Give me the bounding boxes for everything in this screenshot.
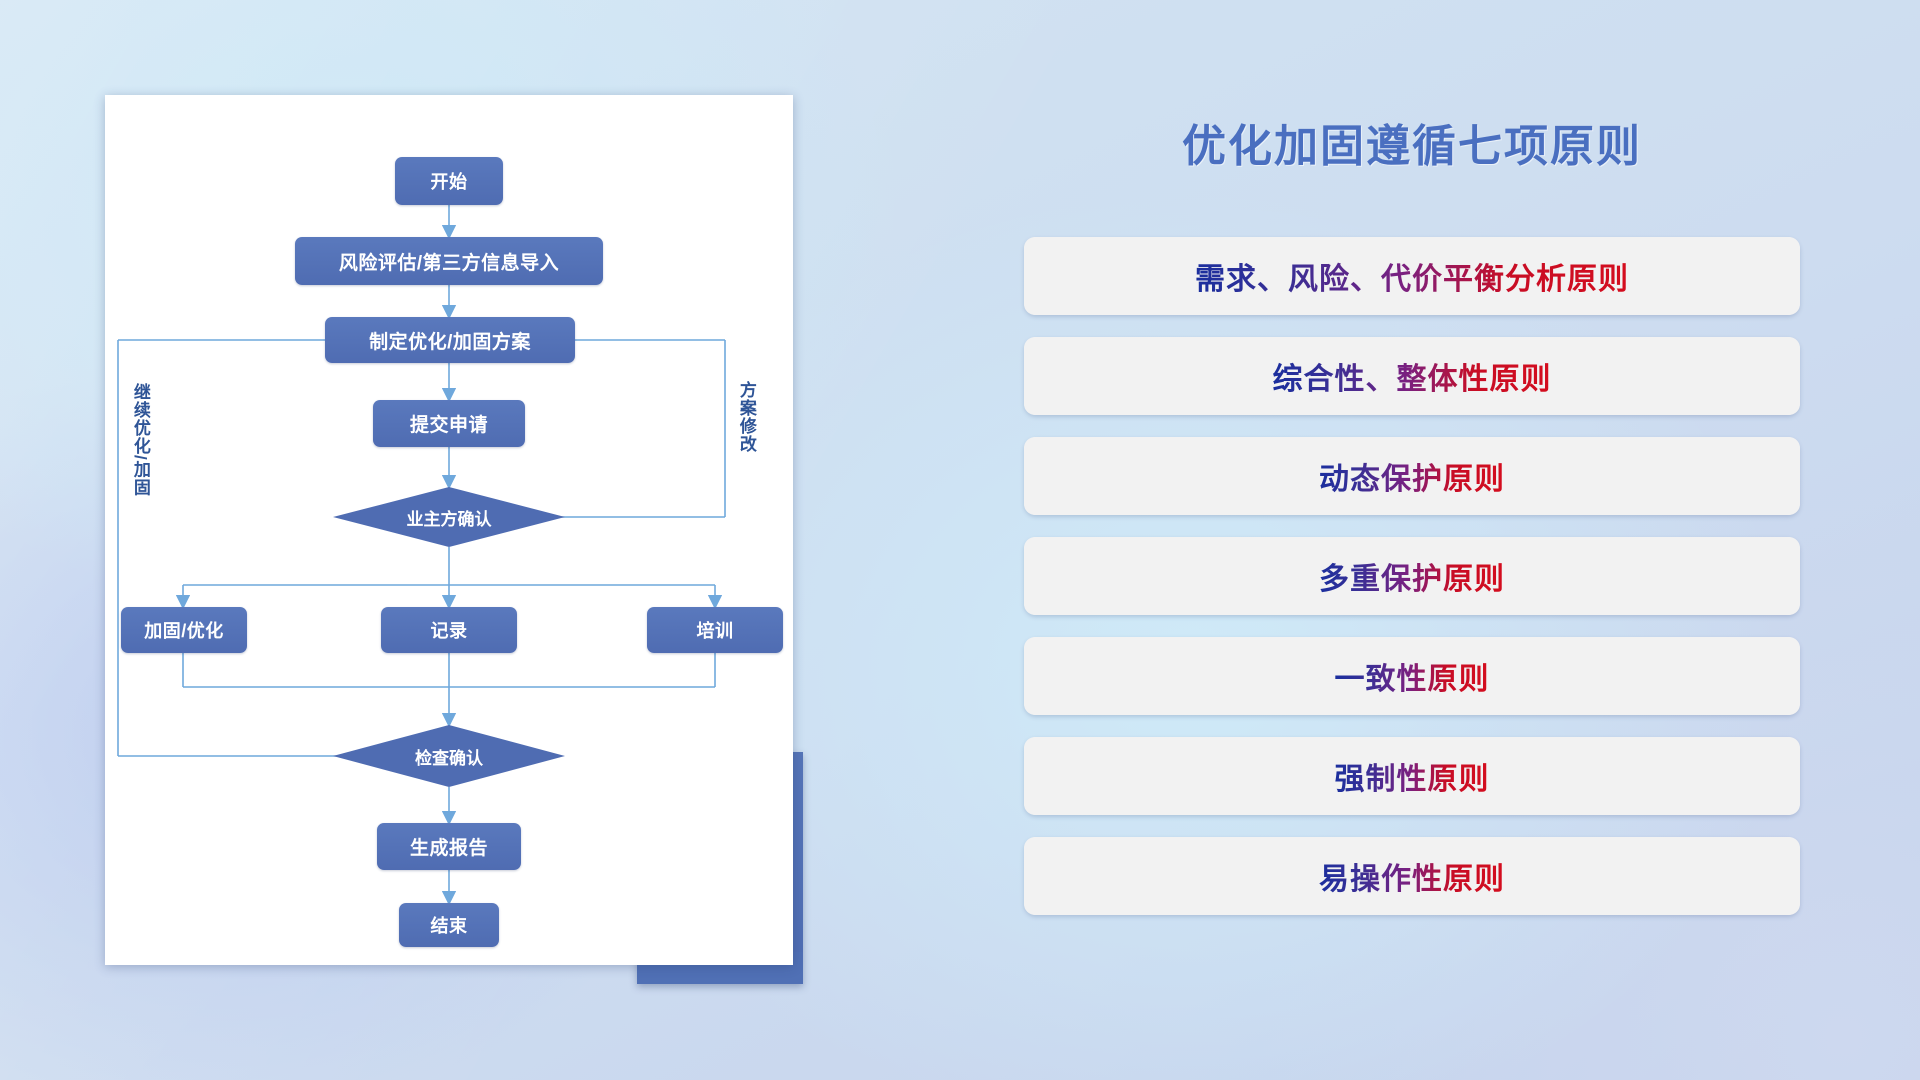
flow-node-label: 提交申请 (410, 410, 488, 437)
flow-node-label: 业主方确认 (407, 505, 492, 530)
flow-node-generate-report[interactable]: 生成报告 (377, 823, 521, 870)
flow-node-label: 记录 (431, 617, 468, 643)
principle-card-surface: 易操作性原则 (1024, 837, 1800, 915)
principles-list: 需求、风险、代价平衡分析原则 综合性、整体性原则 动态保护原则 多重保护原则 一… (1024, 237, 1800, 937)
flowchart-panel: 开始 风险评估/第三方信息导入 制定优化/加固方案 提交申请 业主方确认 加固/… (105, 95, 793, 965)
flow-node-label: 风险评估/第三方信息导入 (339, 248, 559, 275)
principle-card-surface: 动态保护原则 (1024, 437, 1800, 515)
flow-node-make-plan[interactable]: 制定优化/加固方案 (325, 317, 575, 363)
flow-edge-label-left-loop: 继续优化/加固 (131, 383, 149, 497)
flow-node-label: 结束 (431, 912, 468, 938)
flow-node-start[interactable]: 开始 (395, 157, 503, 205)
principle-label: 一致性原则 (1335, 654, 1490, 698)
flow-decision-owner-confirm[interactable]: 业主方确认 (333, 487, 565, 547)
principle-label: 综合性、整体性原则 (1273, 354, 1552, 398)
principle-card-surface: 一致性原则 (1024, 637, 1800, 715)
flow-node-record[interactable]: 记录 (381, 607, 517, 653)
principle-card-surface: 多重保护原则 (1024, 537, 1800, 615)
principle-label: 强制性原则 (1335, 754, 1490, 798)
flow-node-label: 生成报告 (410, 833, 488, 860)
flow-node-label: 检查确认 (415, 744, 483, 769)
flow-node-end[interactable]: 结束 (399, 903, 499, 947)
principle-card[interactable]: 综合性、整体性原则 (1024, 337, 1800, 415)
flow-node-label: 加固/优化 (144, 617, 224, 643)
principle-card-surface: 综合性、整体性原则 (1024, 337, 1800, 415)
principle-card[interactable]: 需求、风险、代价平衡分析原则 (1024, 237, 1800, 315)
principle-label: 多重保护原则 (1319, 554, 1505, 598)
flow-node-submit-application[interactable]: 提交申请 (373, 400, 525, 447)
principle-card[interactable]: 强制性原则 (1024, 737, 1800, 815)
flow-node-risk-assessment[interactable]: 风险评估/第三方信息导入 (295, 237, 603, 285)
flow-edge-label-right-loop: 方案修改 (737, 381, 755, 453)
principle-card-surface: 需求、风险、代价平衡分析原则 (1024, 237, 1800, 315)
flow-node-label: 制定优化/加固方案 (369, 327, 531, 354)
principle-label: 需求、风险、代价平衡分析原则 (1195, 254, 1629, 298)
flow-node-training[interactable]: 培训 (647, 607, 783, 653)
principle-card[interactable]: 动态保护原则 (1024, 437, 1800, 515)
principle-label: 易操作性原则 (1319, 854, 1505, 898)
right-panel-title: 优化加固遵循七项原则 (1024, 110, 1800, 174)
flow-decision-check-confirm[interactable]: 检查确认 (333, 725, 565, 787)
flow-node-label: 开始 (431, 168, 468, 194)
principle-label: 动态保护原则 (1319, 454, 1505, 498)
principle-card[interactable]: 多重保护原则 (1024, 537, 1800, 615)
principle-card[interactable]: 一致性原则 (1024, 637, 1800, 715)
flow-node-reinforce-optimize[interactable]: 加固/优化 (121, 607, 247, 653)
principle-card[interactable]: 易操作性原则 (1024, 837, 1800, 915)
flow-node-label: 培训 (697, 617, 734, 643)
principle-card-surface: 强制性原则 (1024, 737, 1800, 815)
